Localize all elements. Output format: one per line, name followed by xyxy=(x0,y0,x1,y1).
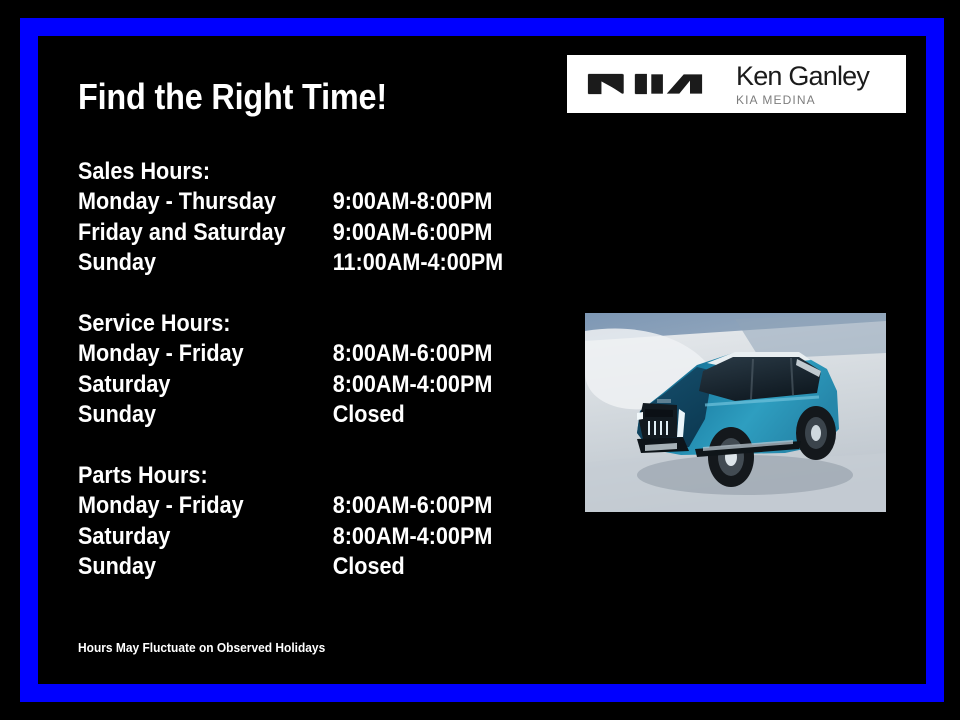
kia-ev9-suv-photo xyxy=(585,313,886,512)
day-label: Monday - Thursday xyxy=(78,187,276,218)
day-label: Monday - Friday xyxy=(78,491,244,522)
time-value: 11:00AM-4:00PM xyxy=(333,248,503,279)
service-hours-heading: Service Hours: xyxy=(78,309,244,339)
day-label: Sunday xyxy=(78,248,156,279)
table-row: Saturday 8:00AM-4:00PM xyxy=(78,370,244,401)
dealer-subtitle: KIA MEDINA xyxy=(736,94,869,106)
time-value: 8:00AM-6:00PM xyxy=(333,339,493,370)
time-value: 9:00AM-8:00PM xyxy=(333,187,493,218)
sales-hours-section: Sales Hours: Monday - Thursday 9:00AM-8:… xyxy=(78,157,286,279)
day-label: Friday and Saturday xyxy=(78,218,286,249)
time-value: Closed xyxy=(333,552,405,583)
service-hours-section: Service Hours: Monday - Friday 8:00AM-6:… xyxy=(78,309,244,431)
page-title: Find the Right Time! xyxy=(78,76,387,118)
table-row: Monday - Friday 8:00AM-6:00PM xyxy=(78,491,244,522)
time-value: 8:00AM-4:00PM xyxy=(333,522,493,553)
dealer-logo-text: Ken Ganley KIA MEDINA xyxy=(736,63,869,106)
table-row: Sunday Closed xyxy=(78,552,244,583)
time-value: Closed xyxy=(333,400,405,431)
sales-hours-heading: Sales Hours: xyxy=(78,157,286,187)
day-label: Saturday xyxy=(78,522,170,553)
time-value: 8:00AM-4:00PM xyxy=(333,370,493,401)
dealer-name: Ken Ganley xyxy=(736,63,869,90)
table-row: Sunday 11:00AM-4:00PM xyxy=(78,248,286,279)
day-label: Saturday xyxy=(78,370,170,401)
day-label: Sunday xyxy=(78,552,156,583)
parts-hours-heading: Parts Hours: xyxy=(78,461,244,491)
slide-root: Find the Right Time! Sales Hours: Monday… xyxy=(0,0,960,720)
table-row: Saturday 8:00AM-4:00PM xyxy=(78,522,244,553)
table-row: Sunday Closed xyxy=(78,400,244,431)
slide-content: Find the Right Time! Sales Hours: Monday… xyxy=(0,0,960,720)
table-row: Monday - Thursday 9:00AM-8:00PM xyxy=(78,187,286,218)
kia-logo-icon xyxy=(586,69,704,99)
parts-hours-section: Parts Hours: Monday - Friday 8:00AM-6:00… xyxy=(78,461,244,583)
holiday-disclaimer: Hours May Fluctuate on Observed Holidays xyxy=(78,640,325,655)
day-label: Sunday xyxy=(78,400,156,431)
time-value: 9:00AM-6:00PM xyxy=(333,218,493,249)
table-row: Monday - Friday 8:00AM-6:00PM xyxy=(78,339,244,370)
table-row: Friday and Saturday 9:00AM-6:00PM xyxy=(78,218,286,249)
day-label: Monday - Friday xyxy=(78,339,244,370)
time-value: 8:00AM-6:00PM xyxy=(333,491,493,522)
dealer-logo: Ken Ganley KIA MEDINA xyxy=(567,55,906,113)
